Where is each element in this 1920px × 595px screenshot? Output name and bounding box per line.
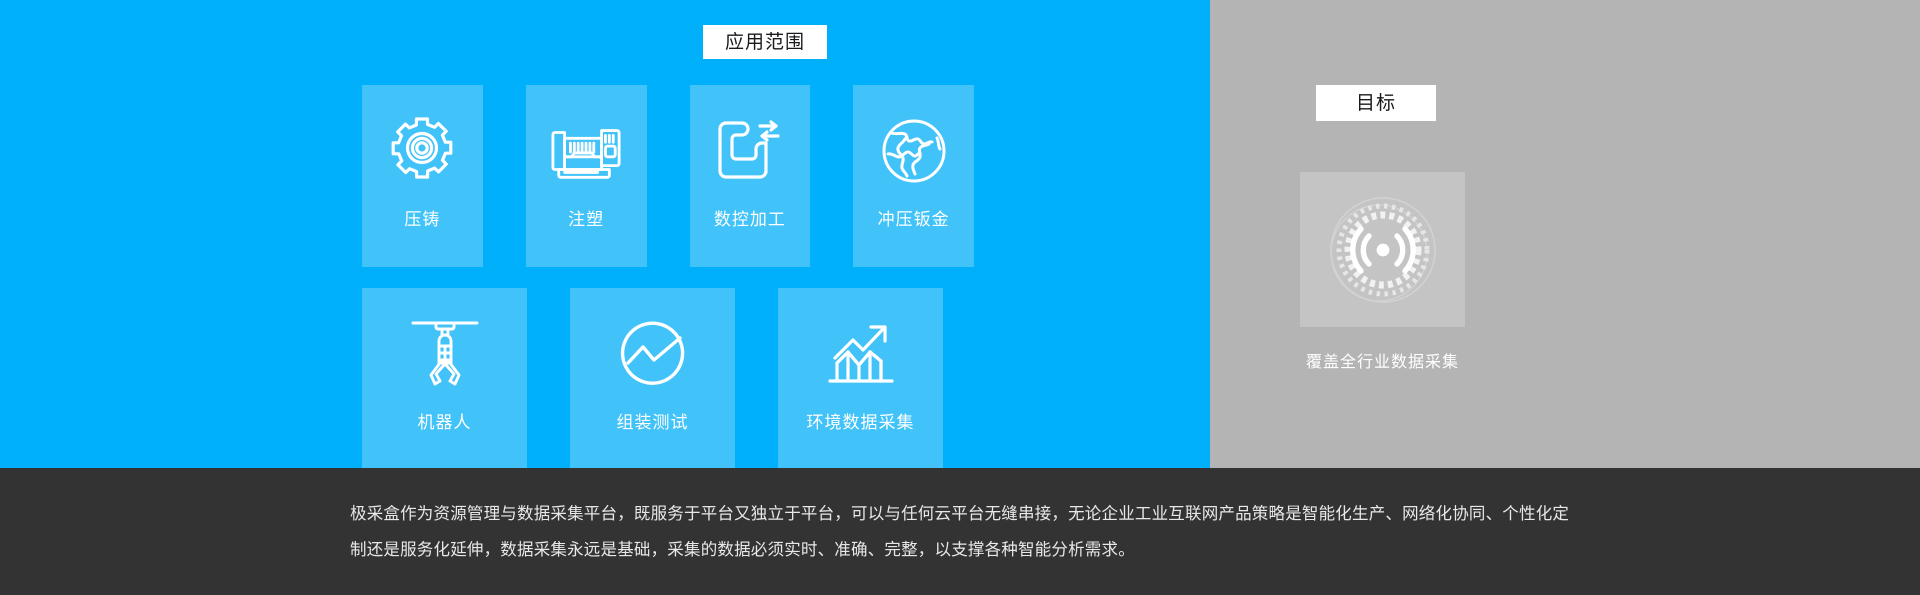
scope-tile-die-casting[interactable]: 压铸 bbox=[362, 85, 483, 267]
cnc-toolpath-icon bbox=[713, 113, 787, 189]
globe-icon bbox=[877, 113, 951, 189]
scope-tile-label: 注塑 bbox=[568, 211, 604, 228]
footer-bar: 极采盒作为资源管理与数据采集平台，既服务于平台又独立于平台，可以与任何云平台无缝… bbox=[0, 468, 1920, 595]
scope-tile-robot[interactable]: 机器人 bbox=[362, 288, 527, 470]
scope-tile-label: 压铸 bbox=[404, 211, 440, 228]
scope-tile-label: 冲压钣金 bbox=[878, 211, 950, 228]
goal-card[interactable] bbox=[1300, 172, 1465, 327]
signal-broadcast-icon bbox=[1321, 188, 1445, 312]
scope-tile-label: 环境数据采集 bbox=[807, 414, 915, 431]
scope-tile-row-2: 机器人 组装测试 bbox=[362, 288, 974, 470]
goal-panel: 目标 覆盖全行业数据采集 bbox=[1210, 0, 1920, 468]
scope-tile-label: 组装测试 bbox=[617, 414, 689, 431]
scope-tile-label: 数控加工 bbox=[714, 211, 786, 228]
page-root: 应用范围 压铸 bbox=[0, 0, 1920, 595]
goal-card-caption: 覆盖全行业数据采集 bbox=[1210, 355, 1555, 371]
goal-section-badge: 目标 bbox=[1316, 85, 1436, 121]
injection-molding-machine-icon bbox=[549, 113, 623, 189]
gear-icon bbox=[385, 113, 459, 189]
scope-tile-stamping-sheetmetal[interactable]: 冲压钣金 bbox=[853, 85, 974, 267]
scope-tile-label: 机器人 bbox=[418, 414, 472, 431]
scope-tile-environment-data[interactable]: 环境数据采集 bbox=[778, 288, 943, 470]
scope-panel: 应用范围 压铸 bbox=[0, 0, 1210, 468]
scope-tile-row-1: 压铸 bbox=[362, 85, 974, 267]
upper-region: 应用范围 压铸 bbox=[0, 0, 1920, 468]
robot-gripper-icon bbox=[408, 316, 482, 392]
footer-description: 极采盒作为资源管理与数据采集平台，既服务于平台又独立于平台，可以与任何云平台无缝… bbox=[350, 496, 1570, 568]
line-chart-circle-icon bbox=[616, 316, 690, 392]
scope-tile-cnc-machining[interactable]: 数控加工 bbox=[690, 85, 811, 267]
scope-tile-injection-molding[interactable]: 注塑 bbox=[526, 85, 647, 267]
bar-chart-arrow-icon bbox=[824, 316, 898, 392]
scope-section-badge: 应用范围 bbox=[703, 25, 827, 59]
scope-tile-grid: 压铸 bbox=[362, 85, 974, 491]
scope-tile-assembly-test[interactable]: 组装测试 bbox=[570, 288, 735, 470]
